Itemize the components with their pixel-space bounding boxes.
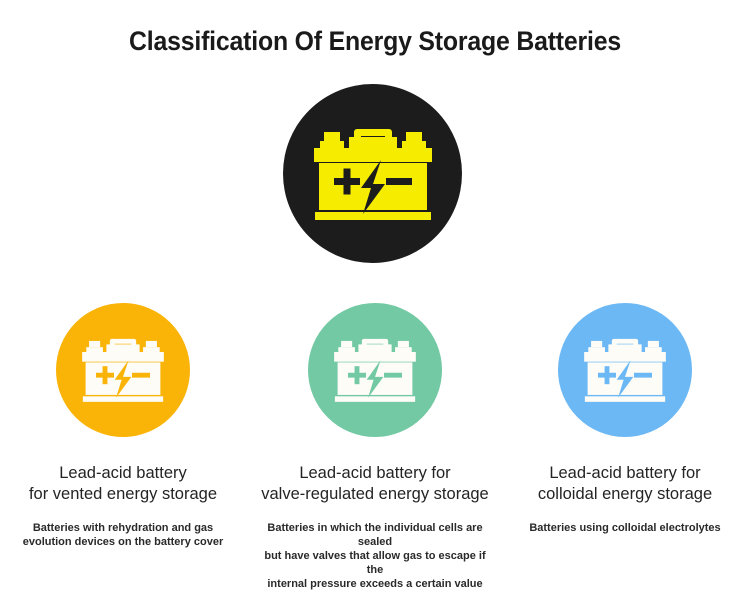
category-title-line: Lead-acid battery for [256,463,494,484]
category-title-line: colloidal energy storage [506,484,744,505]
category-subtitle-2: Batteries in which the individual cells … [250,521,500,591]
category-circle-2 [308,303,442,437]
category-subtitle-line: Batteries using colloidal electrolytes [510,521,740,535]
category-title-2: Lead-acid battery for valve-regulated en… [250,463,500,505]
category-column-2: Lead-acid battery for valve-regulated en… [250,303,500,591]
category-subtitle-line: Batteries with rehydration and gas [8,521,238,535]
hero-battery-circle [283,84,462,263]
category-subtitle-line: internal pressure exceeds a certain valu… [260,577,490,591]
category-column-3: Lead-acid battery for colloidal energy s… [500,303,750,535]
car-battery-icon [332,334,418,406]
category-title-line: for vented energy storage [4,484,242,505]
category-circle-1 [56,303,190,437]
category-circle-3 [558,303,692,437]
category-subtitle-line: Batteries in which the individual cells … [260,521,490,549]
category-subtitle-3: Batteries using colloidal electrolytes [500,521,750,535]
category-title-1: Lead-acid battery for vented energy stor… [0,463,248,505]
category-subtitle-line: evolution devices on the battery cover [8,535,238,549]
category-column-1: Lead-acid battery for vented energy stor… [0,303,248,549]
category-title-3: Lead-acid battery for colloidal energy s… [500,463,750,505]
infographic-page: Classification Of Energy Storage Batteri… [0,0,750,600]
car-battery-icon [311,122,435,226]
category-subtitle-line: but have valves that allow gas to escape… [260,549,490,577]
car-battery-icon [80,334,166,406]
category-subtitle-1: Batteries with rehydration and gas evolu… [0,521,248,549]
page-title: Classification Of Energy Storage Batteri… [30,26,720,57]
category-title-line: Lead-acid battery for [506,463,744,484]
category-title-line: valve-regulated energy storage [256,484,494,505]
car-battery-icon [582,334,668,406]
category-title-line: Lead-acid battery [4,463,242,484]
